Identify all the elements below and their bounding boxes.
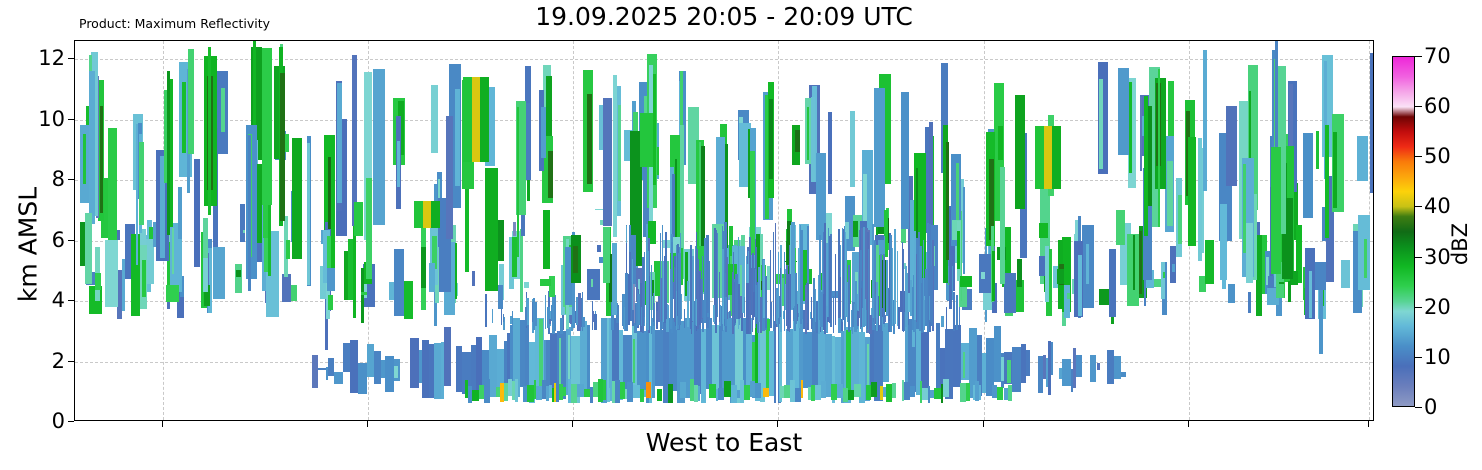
- reflectivity-column: [213, 247, 225, 299]
- reflectivity-column: [1044, 126, 1052, 190]
- y-axis-tick-label: 8: [52, 167, 65, 191]
- reflectivity-column: [905, 273, 907, 327]
- reflectivity-column: [960, 276, 972, 287]
- reflectivity-column: [1067, 293, 1069, 299]
- reflectivity-column: [784, 252, 785, 331]
- y-axis-tick-label: 4: [52, 288, 65, 312]
- reflectivity-column: [397, 141, 400, 187]
- colorbar-tick-mark: [1415, 56, 1422, 57]
- reflectivity-column: [655, 330, 663, 386]
- reflectivity-column: [455, 89, 460, 186]
- reflectivity-column: [203, 218, 208, 258]
- reflectivity-column: [649, 276, 650, 333]
- colorbar-tick-mark: [1415, 156, 1422, 157]
- reflectivity-column: [675, 159, 678, 248]
- reflectivity-column: [801, 380, 803, 398]
- reflectivity-column: [594, 314, 597, 330]
- reflectivity-column: [1319, 280, 1323, 354]
- y-axis-tick-label: 10: [38, 107, 65, 131]
- reflectivity-column: [786, 265, 788, 326]
- reflectivity-column: [539, 319, 543, 386]
- reflectivity-column: [941, 316, 943, 327]
- reflectivity-column: [897, 251, 899, 326]
- reflectivity-column: [1035, 126, 1044, 190]
- reflectivity-column: [707, 313, 709, 317]
- reflectivity-column: [1178, 195, 1181, 244]
- reflectivity-column: [998, 126, 1003, 160]
- reflectivity-column: [763, 260, 765, 318]
- reflectivity-column: [521, 214, 526, 237]
- reflectivity-column: [853, 221, 858, 237]
- reflectivity-column: [653, 293, 654, 322]
- reflectivity-column: [1144, 96, 1148, 235]
- reflectivity-column: [1045, 246, 1049, 303]
- reflectivity-column: [1007, 360, 1011, 383]
- reflectivity-column: [117, 270, 122, 318]
- x-axis-label: West to East: [74, 428, 1374, 457]
- reflectivity-column: [607, 388, 610, 402]
- x-axis-tick-mark: [983, 421, 984, 427]
- reflectivity-column: [525, 307, 527, 325]
- reflectivity-column: [591, 279, 593, 286]
- reflectivity-column: [722, 324, 730, 388]
- reflectivity-column: [548, 151, 553, 199]
- reflectivity-column: [587, 94, 593, 184]
- reflectivity-column: [1325, 125, 1329, 238]
- colorbar-tick-label: 0: [1424, 395, 1437, 419]
- reflectivity-column: [618, 105, 622, 201]
- reflectivity-column: [719, 272, 720, 321]
- reflectivity-column: [285, 134, 290, 152]
- reflectivity-column: [931, 266, 933, 326]
- reflectivity-column: [385, 356, 394, 392]
- reflectivity-column: [961, 211, 963, 301]
- reflectivity-column: [1017, 259, 1021, 286]
- reflectivity-column: [545, 295, 546, 330]
- colorbar-tick-mark: [1415, 307, 1422, 308]
- reflectivity-column: [633, 385, 640, 398]
- reflectivity-column: [582, 317, 584, 328]
- reflectivity-column: [795, 130, 800, 152]
- reflectivity-column: [517, 107, 520, 256]
- reflectivity-column: [492, 309, 493, 323]
- reflectivity-column: [868, 249, 870, 330]
- colorbar-tick-label: 70: [1424, 44, 1451, 68]
- reflectivity-column: [818, 331, 825, 388]
- reflectivity-column: [946, 307, 948, 330]
- reflectivity-column: [1133, 235, 1136, 290]
- colorbar: [1392, 56, 1415, 407]
- y-axis-tick-mark: [68, 421, 74, 422]
- y-axis-tick-label: 2: [52, 349, 65, 373]
- reflectivity-column: [921, 283, 923, 333]
- reflectivity-column: [877, 296, 879, 331]
- reflectivity-column: [573, 246, 578, 273]
- reflectivity-column: [361, 292, 366, 295]
- reflectivity-column: [1205, 240, 1214, 284]
- reflectivity-column: [524, 282, 529, 287]
- reflectivity-column: [1062, 359, 1071, 386]
- y-axis-label: km AMSL: [14, 165, 43, 325]
- reflectivity-column: [633, 339, 635, 383]
- reflectivity-column: [890, 235, 892, 332]
- reflectivity-column: [800, 230, 802, 319]
- reflectivity-column: [953, 325, 961, 387]
- reflectivity-column: [892, 383, 897, 398]
- colorbar-tick-label: 20: [1424, 295, 1451, 319]
- reflectivity-column: [795, 388, 801, 402]
- colorbar-tick-label: 50: [1424, 144, 1451, 168]
- reflectivity-column: [527, 385, 534, 402]
- reflectivity-column: [1167, 161, 1172, 225]
- reflectivity-column: [429, 263, 436, 292]
- reflectivity-column: [167, 71, 170, 236]
- reflectivity-column: [1026, 350, 1031, 376]
- reflectivity-column: [1099, 79, 1103, 169]
- reflectivity-column: [1129, 82, 1132, 173]
- reflectivity-column: [778, 252, 780, 318]
- reflectivity-column: [914, 231, 916, 320]
- reflectivity-column: [291, 285, 297, 301]
- reflectivity-column: [644, 252, 645, 317]
- reflectivity-column: [949, 255, 953, 309]
- reflectivity-column: [1139, 231, 1142, 294]
- reflectivity-column: [280, 73, 285, 221]
- reflectivity-column: [541, 107, 546, 158]
- reflectivity-column: [1121, 372, 1126, 377]
- reflectivity-column: [740, 296, 741, 318]
- reflectivity-column: [1161, 262, 1164, 299]
- reflectivity-column: [374, 351, 381, 384]
- reflectivity-column: [1341, 260, 1350, 288]
- reflectivity-column: [1000, 167, 1004, 284]
- reflectivity-column: [422, 340, 429, 398]
- reflectivity-column: [240, 204, 245, 242]
- reflectivity-column: [587, 269, 600, 300]
- y-axis-tick-label: 0: [52, 409, 65, 433]
- y-axis-tick-mark: [68, 300, 74, 301]
- colorbar-tick-mark: [1415, 407, 1422, 408]
- reflectivity-column: [921, 332, 928, 389]
- reflectivity-column: [353, 225, 357, 318]
- reflectivity-column: [844, 226, 845, 326]
- reflectivity-column: [769, 99, 773, 178]
- reflectivity-column: [485, 168, 498, 292]
- reflectivity-column: [625, 273, 627, 331]
- reflectivity-column: [861, 288, 862, 327]
- y-axis-tick-mark: [68, 119, 74, 120]
- reflectivity-column: [842, 228, 843, 323]
- y-axis-tick-label: 6: [52, 228, 65, 252]
- reflectivity-column: [535, 302, 537, 326]
- reflectivity-column: [423, 201, 431, 228]
- reflectivity-column: [1228, 284, 1235, 303]
- reflectivity-column: [358, 363, 367, 394]
- reflectivity-column: [1064, 285, 1070, 318]
- reflectivity-column: [1370, 53, 1374, 193]
- reflectivity-column: [871, 382, 877, 397]
- y-axis-tick-label: 12: [38, 46, 65, 70]
- reflectivity-column: [854, 304, 856, 332]
- reflectivity-column: [678, 253, 680, 325]
- reflectivity-column: [394, 249, 405, 316]
- reflectivity-column: [746, 283, 749, 334]
- reflectivity-column: [172, 228, 174, 274]
- reflectivity-column: [595, 209, 602, 210]
- reflectivity-column: [1288, 281, 1292, 302]
- reflectivity-column: [1271, 147, 1281, 274]
- reflectivity-column: [1076, 355, 1082, 377]
- reflectivity-column: [869, 315, 871, 334]
- reflectivity-column: [603, 227, 610, 283]
- reflectivity-column: [664, 256, 666, 323]
- reflectivity-column: [774, 321, 776, 403]
- reflectivity-column: [847, 282, 849, 322]
- reflectivity-column: [640, 113, 652, 168]
- reflectivity-column: [194, 159, 199, 267]
- reflectivity-column: [883, 254, 885, 324]
- reflectivity-column: [699, 271, 701, 325]
- x-axis-tick-mark: [572, 421, 573, 427]
- x-axis-tick-mark: [1368, 421, 1369, 427]
- reflectivity-column: [543, 210, 550, 269]
- reflectivity-column: [540, 279, 551, 286]
- y-axis-tick-mark: [68, 58, 74, 59]
- reflectivity-column: [136, 124, 138, 265]
- reflectivity-column: [1373, 48, 1374, 204]
- reflectivity-column: [715, 230, 717, 333]
- reflectivity-column: [208, 47, 211, 216]
- reflectivity-column: [1099, 289, 1109, 305]
- reflectivity-column: [789, 245, 790, 332]
- reflectivity-column: [837, 384, 844, 399]
- reflectivity-column: [992, 251, 995, 301]
- reflectivity-column: [981, 272, 985, 279]
- reflectivity-column: [828, 112, 833, 194]
- reflectivity-column: [901, 92, 909, 229]
- reflectivity-column: [1114, 356, 1121, 380]
- reflectivity-column: [83, 134, 86, 184]
- reflectivity-column: [1078, 255, 1082, 317]
- reflectivity-column: [85, 213, 92, 285]
- reflectivity-column: [1203, 50, 1207, 191]
- reflectivity-column: [1309, 271, 1312, 318]
- reflectivity-column: [755, 383, 761, 398]
- reflectivity-column: [444, 327, 451, 386]
- reflectivity-column: [838, 229, 840, 317]
- reflectivity-column: [373, 69, 385, 225]
- reflectivity-column: [472, 271, 475, 286]
- reflectivity-column: [807, 107, 809, 160]
- reflectivity-column: [520, 229, 522, 313]
- reflectivity-column: [307, 143, 310, 285]
- reflectivity-column: [343, 343, 351, 372]
- reflectivity-column: [1158, 69, 1160, 227]
- reflectivity-column: [1248, 292, 1251, 313]
- reflectivity-column: [554, 295, 555, 331]
- colorbar-tick-label: 10: [1424, 345, 1451, 369]
- reflectivity-column: [876, 282, 878, 331]
- reflectivity-column: [957, 231, 960, 268]
- y-axis-tick-mark: [68, 240, 74, 241]
- reflectivity-column: [105, 240, 118, 306]
- reflectivity-column: [997, 387, 1004, 400]
- reflectivity-column: [1364, 239, 1367, 279]
- reflectivity-column: [829, 236, 830, 323]
- reflectivity-column: [166, 285, 179, 303]
- reflectivity-column: [221, 88, 225, 132]
- reflectivity-column: [882, 308, 884, 317]
- reflectivity-column: [635, 305, 636, 325]
- reflectivity-column: [1140, 97, 1142, 172]
- reflectivity-column: [656, 311, 658, 320]
- reflectivity-column: [835, 254, 836, 325]
- reflectivity-column: [1220, 204, 1227, 280]
- reflectivity-column: [549, 319, 551, 325]
- reflectivity-column: [797, 304, 798, 320]
- reflectivity-column: [821, 381, 825, 398]
- reflectivity-column: [577, 384, 584, 397]
- reflectivity-column: [833, 296, 834, 334]
- reflectivity-column: [854, 384, 861, 396]
- reflectivity-column: [334, 372, 343, 384]
- reflectivity-column: [262, 48, 272, 205]
- reflectivity-column: [729, 311, 731, 319]
- reflectivity-column: [512, 237, 517, 277]
- reflectivity-column: [632, 310, 634, 325]
- reflectivity-column: [760, 297, 763, 334]
- reflectivity-column: [963, 352, 965, 378]
- reflectivity-column: [668, 384, 674, 403]
- reflectivity-column: [352, 55, 357, 227]
- reflectivity-column: [513, 222, 516, 236]
- plot-area: [74, 40, 1374, 421]
- reflectivity-column: [612, 243, 618, 316]
- reflectivity-column: [763, 388, 769, 397]
- reflectivity-column: [1188, 137, 1196, 246]
- reflectivity-column: [902, 242, 903, 331]
- reflectivity-column: [795, 273, 797, 324]
- x-axis-tick-mark: [367, 421, 368, 427]
- reflectivity-column: [738, 284, 740, 319]
- reflectivity-column: [1118, 68, 1129, 155]
- reflectivity-column: [337, 83, 342, 202]
- reflectivity-column: [142, 260, 146, 297]
- reflectivity-column: [1052, 126, 1061, 190]
- reflectivity-column: [597, 245, 601, 253]
- reflectivity-column: [752, 253, 753, 331]
- reflectivity-column: [805, 285, 807, 334]
- reflectivity-column: [883, 323, 889, 382]
- reflectivity-column: [698, 386, 700, 401]
- reflectivity-column: [1148, 106, 1153, 207]
- reflectivity-column: [979, 385, 982, 400]
- reflectivity-column: [286, 240, 290, 259]
- reflectivity-column: [182, 82, 186, 154]
- reflectivity-column: [753, 292, 755, 317]
- reflectivity-column: [366, 178, 371, 279]
- reflectivity-column: [1086, 244, 1088, 285]
- reflectivity-column: [803, 332, 812, 388]
- reflectivity-column: [312, 355, 318, 388]
- reflectivity-column: [367, 344, 374, 376]
- reflectivity-column: [1004, 273, 1016, 314]
- reflectivity-column: [1316, 131, 1319, 169]
- reflectivity-column: [463, 77, 472, 162]
- reflectivity-column: [1226, 106, 1238, 186]
- reflectivity-column: [660, 233, 661, 331]
- reflectivity-column: [943, 379, 949, 398]
- reflectivity-column: [811, 297, 813, 329]
- reflectivity-column: [603, 98, 612, 225]
- reflectivity-column: [823, 294, 825, 330]
- reflectivity-column: [1109, 249, 1116, 317]
- reflectivity-column: [515, 379, 518, 402]
- reflectivity-column: [815, 289, 816, 322]
- reflectivity-column: [498, 285, 502, 309]
- reflectivity-column: [966, 383, 970, 401]
- reflectivity-column: [733, 252, 735, 326]
- reflectivity-column: [845, 232, 846, 317]
- x-axis-tick-mark: [1188, 421, 1189, 427]
- reflectivity-column: [749, 300, 751, 333]
- reflectivity-column: [328, 295, 333, 310]
- reflectivity-column: [1279, 282, 1284, 284]
- reflectivity-column: [600, 220, 603, 225]
- reflectivity-column: [243, 230, 245, 233]
- x-axis-tick-mark: [162, 421, 163, 427]
- reflectivity-column: [1008, 385, 1012, 401]
- reflectivity-column: [1246, 223, 1253, 283]
- y-axis-tick-mark: [68, 361, 74, 362]
- colorbar-gradient: [1393, 57, 1414, 406]
- reflectivity-column: [1012, 347, 1020, 392]
- reflectivity-column: [713, 305, 715, 322]
- reflectivity-column: [421, 247, 426, 288]
- reflectivity-column: [404, 281, 412, 318]
- colorbar-tick-label: 60: [1424, 94, 1451, 118]
- reflectivity-column: [410, 338, 419, 387]
- reflectivity-column: [697, 259, 699, 329]
- reflectivity-column: [850, 111, 856, 186]
- reflectivity-data: [75, 41, 1373, 420]
- reflectivity-column: [361, 268, 364, 323]
- reflectivity-column: [480, 77, 489, 162]
- reflectivity-column: [139, 142, 144, 225]
- reflectivity-column: [178, 187, 182, 239]
- reflectivity-column: [820, 292, 823, 326]
- colorbar-tick-mark: [1415, 206, 1422, 207]
- reflectivity-column: [236, 270, 241, 277]
- reflectivity-column: [354, 202, 363, 235]
- reflectivity-column: [676, 291, 678, 330]
- reflectivity-column: [414, 201, 423, 228]
- reflectivity-column: [563, 387, 566, 397]
- reflectivity-column: [235, 264, 242, 293]
- reflectivity-column: [446, 116, 453, 238]
- reflectivity-column: [1090, 355, 1097, 382]
- reflectivity-column: [755, 285, 756, 317]
- reflectivity-column: [684, 309, 685, 328]
- reflectivity-column: [910, 386, 915, 397]
- reflectivity-column: [708, 261, 709, 320]
- reflectivity-column: [946, 142, 949, 261]
- x-axis-tick-mark: [777, 421, 778, 427]
- reflectivity-column: [95, 273, 101, 290]
- reflectivity-column: [318, 368, 326, 370]
- colorbar-tick-mark: [1415, 257, 1422, 258]
- product-label: Product: Maximum Reflectivity: [79, 16, 270, 31]
